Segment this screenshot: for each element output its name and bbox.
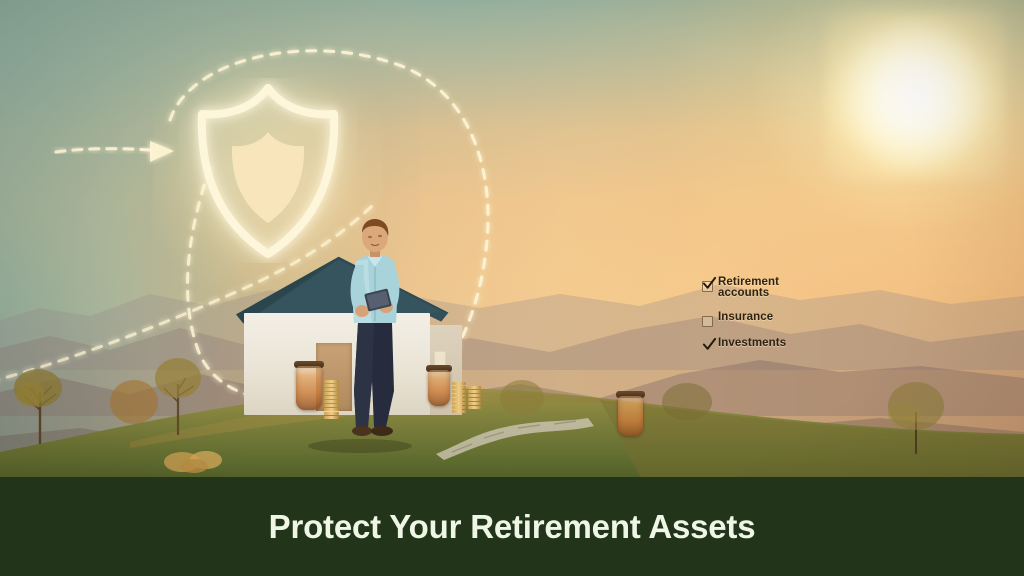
- retirement-checklist: Retirement accounts Insurance Investment…: [702, 277, 820, 364]
- checklist-item-retirement-accounts[interactable]: Retirement accounts: [702, 277, 820, 299]
- checklist-label: Retirement accounts: [718, 277, 814, 299]
- bottom-banner: Protect Your Retirement Assets: [0, 477, 1024, 576]
- checkbox-retirement-accounts[interactable]: [702, 281, 713, 292]
- checkbox-investments[interactable]: [702, 342, 713, 353]
- banner-title: Protect Your Retirement Assets: [269, 508, 756, 546]
- coin-stack-left: [324, 380, 339, 420]
- hero-scene: Retirement accounts Insurance Investment…: [0, 0, 1024, 576]
- jar-glass: [296, 366, 322, 410]
- checklist-item-insurance[interactable]: Insurance: [702, 312, 820, 327]
- coin-jar-right: [618, 396, 643, 436]
- coin-stack-center-2: [468, 386, 481, 410]
- shield-icon: [178, 78, 358, 263]
- coin-jar-left: [296, 366, 322, 410]
- checkmark-icon: [702, 276, 717, 291]
- man-holding-tablet: [338, 215, 412, 447]
- coin-stack-center: [452, 382, 466, 414]
- checklist-label: Insurance: [718, 312, 773, 323]
- checklist-item-investments[interactable]: Investments: [702, 338, 820, 353]
- checkbox-insurance[interactable]: [702, 316, 713, 327]
- jar-glass: [618, 396, 643, 436]
- checkmark-icon: [702, 337, 717, 352]
- checklist-label: Investments: [718, 338, 786, 349]
- jar-glass: [428, 370, 450, 406]
- coin-jar-center: [428, 370, 450, 406]
